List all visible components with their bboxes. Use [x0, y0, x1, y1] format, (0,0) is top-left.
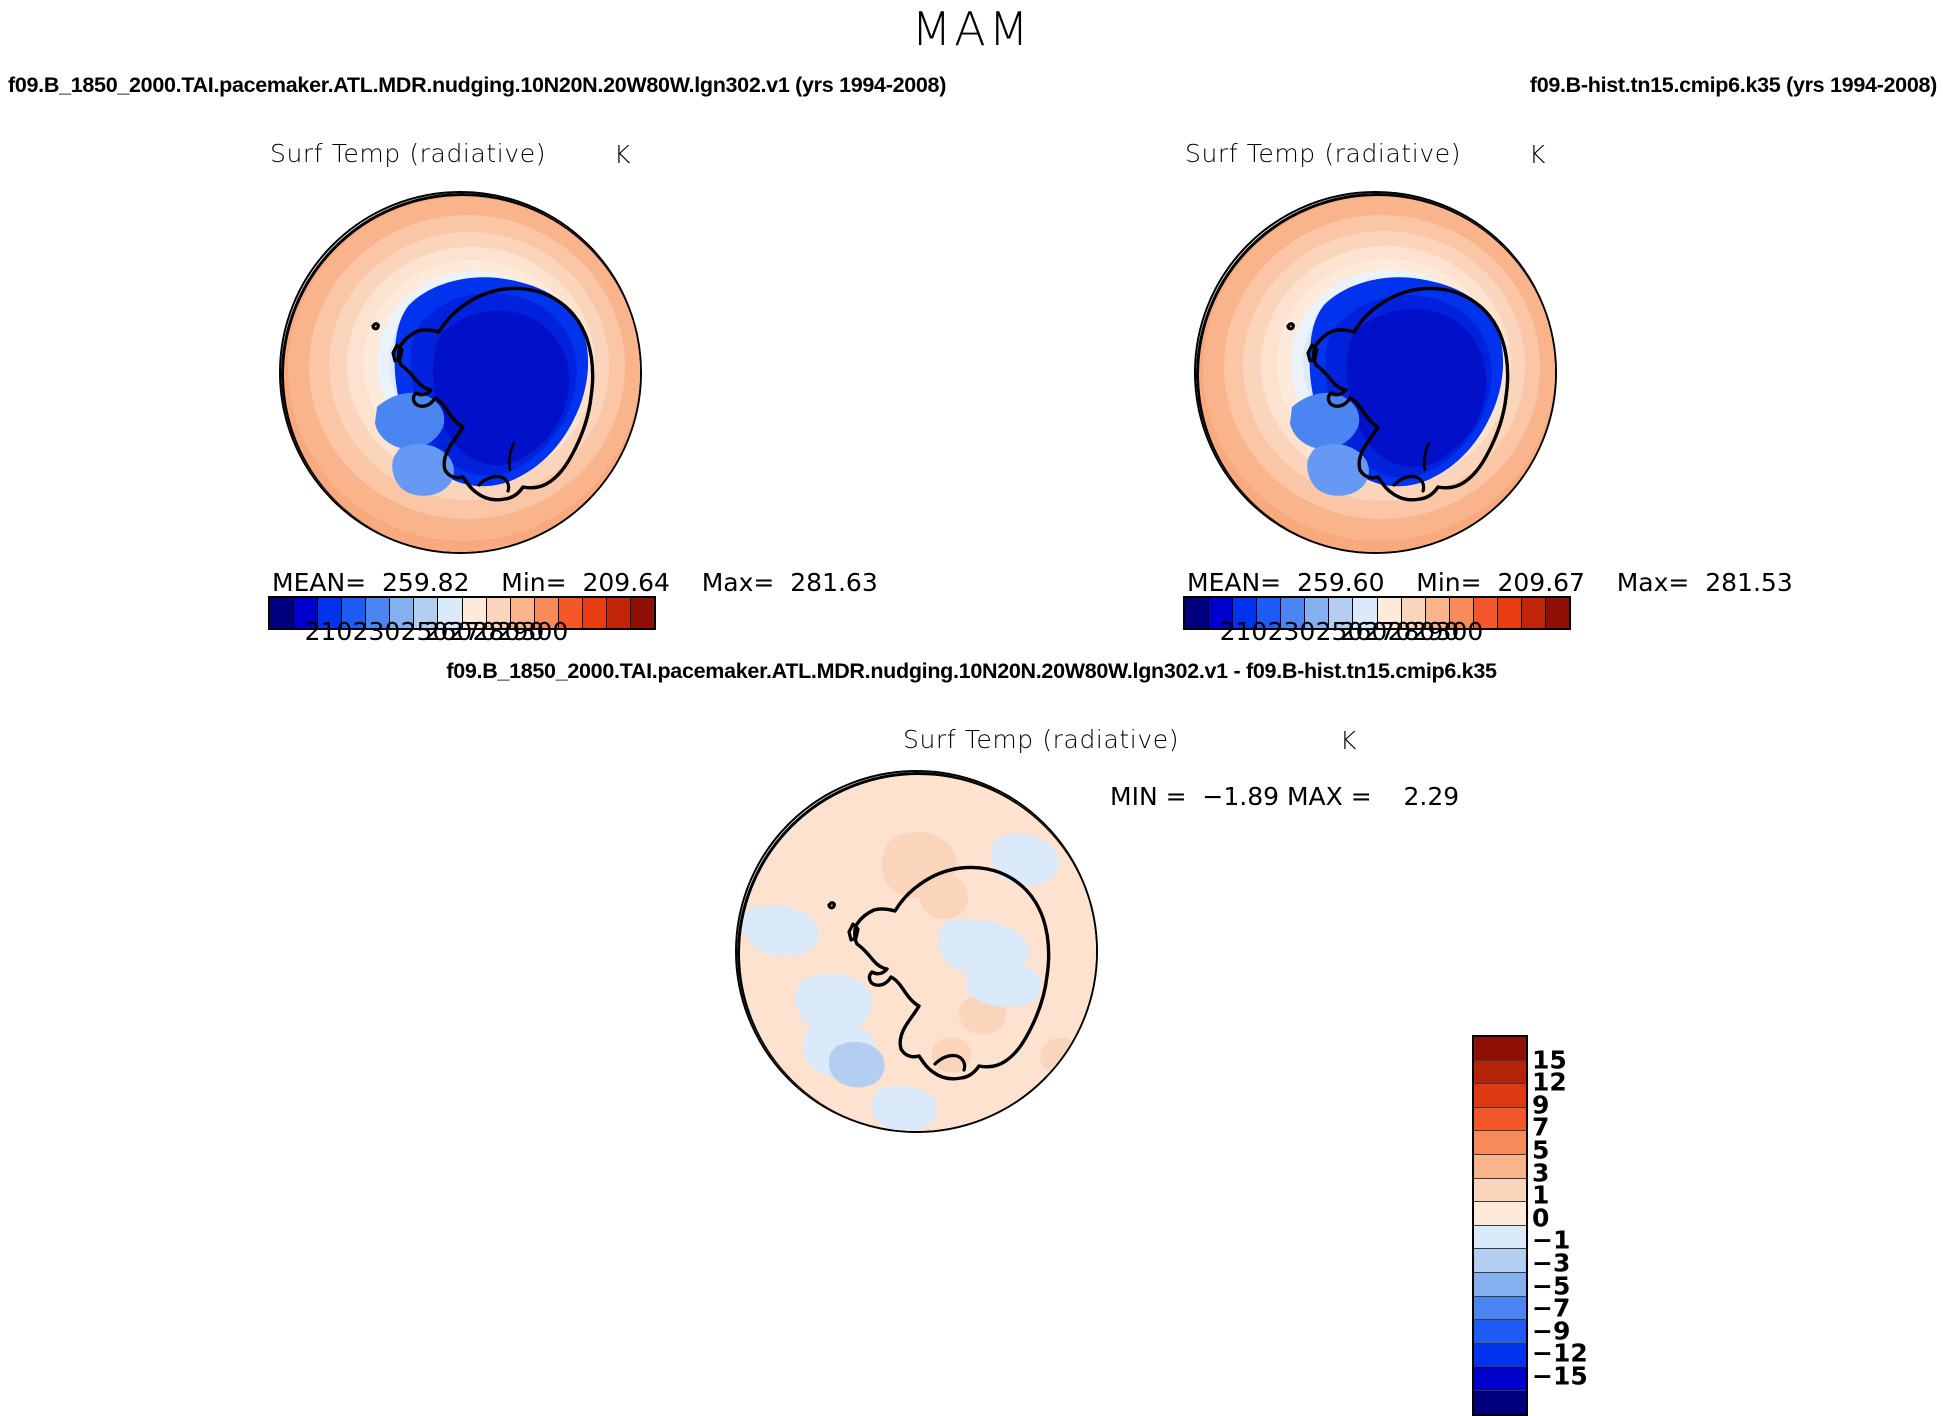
difference-colorbar — [1472, 1035, 1528, 1416]
difference-colorbar-swatch — [1474, 1037, 1526, 1061]
difference-colorbar-swatch — [1474, 1249, 1526, 1273]
difference-colorbar-swatch — [1474, 1202, 1526, 1226]
difference-colorbar-swatch — [1474, 1084, 1526, 1108]
difference-colorbar-swatch — [1474, 1320, 1526, 1344]
difference-colorbar-swatch — [1474, 1179, 1526, 1203]
difference-colorbar-swatch — [1474, 1391, 1526, 1414]
difference-colorbar-tick-label: −15 — [1532, 1362, 1588, 1391]
difference-colorbar-swatch — [1474, 1273, 1526, 1297]
difference-polar-map-svg — [737, 772, 1098, 1133]
difference-colorbar-swatch — [1474, 1061, 1526, 1085]
difference-colorbar-swatch — [1474, 1155, 1526, 1179]
difference-unit-label: K — [1340, 726, 1357, 755]
difference-colorbar-swatch — [1474, 1108, 1526, 1132]
difference-polar-map — [735, 770, 1098, 1133]
difference-colorbar-swatch — [1474, 1131, 1526, 1155]
difference-colorbar-swatch — [1474, 1344, 1526, 1368]
difference-colorbar-swatch — [1474, 1297, 1526, 1321]
difference-colorbar-swatch — [1474, 1367, 1526, 1391]
difference-colorbar-swatch — [1474, 1226, 1526, 1250]
difference-minmax-stats: MIN = −1.89 MAX = 2.29 — [1110, 782, 1459, 811]
difference-variable-label: Surf Temp (radiative) — [903, 725, 1179, 754]
difference-map-panel: Surf Temp (radiative) K MIN = −1.89 MAX … — [0, 0, 1943, 1412]
